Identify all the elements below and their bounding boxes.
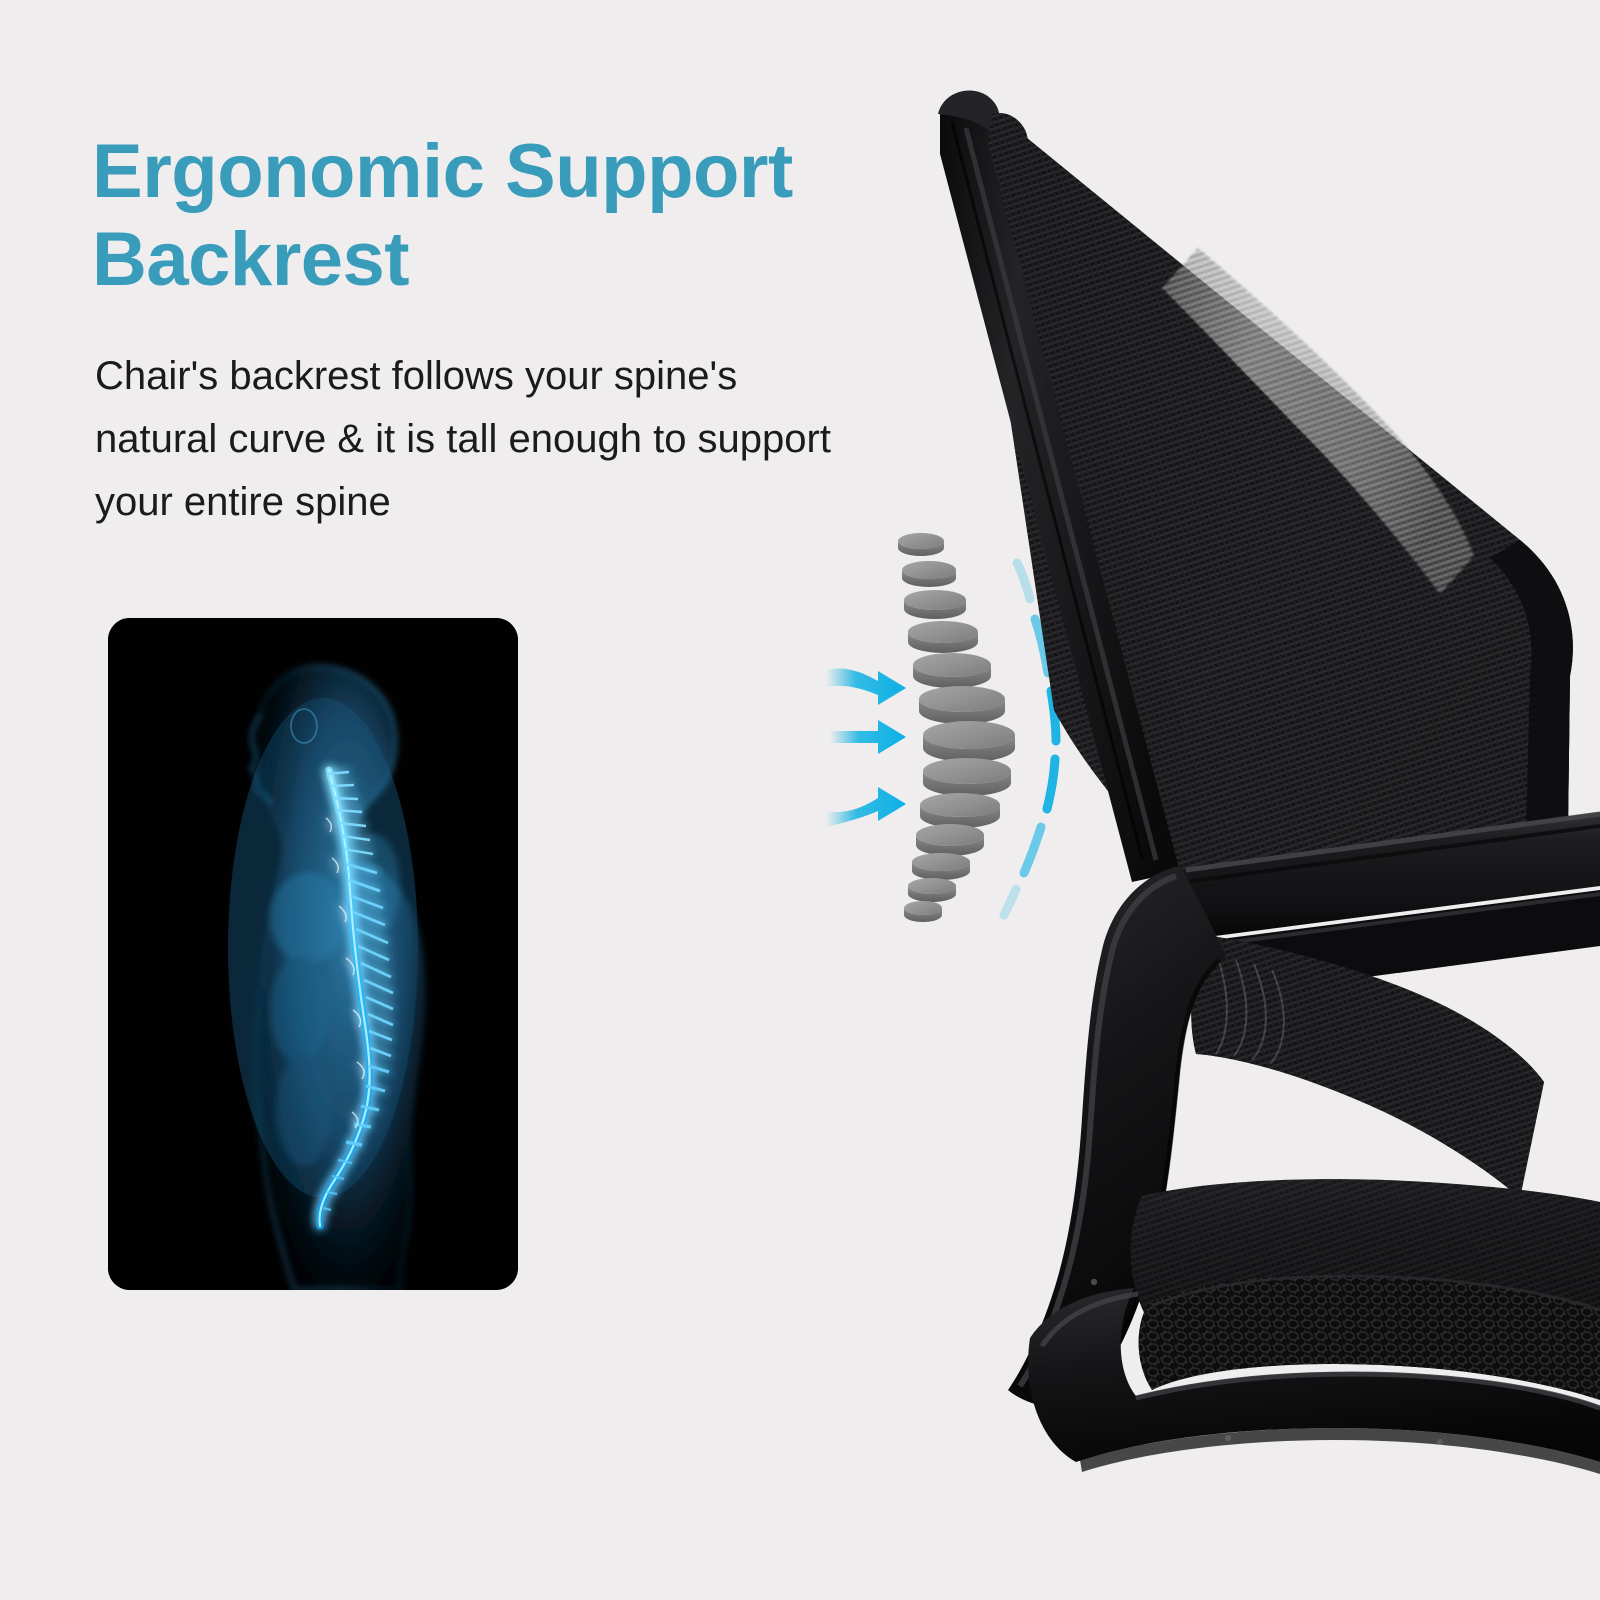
seat-cushion	[1131, 1179, 1600, 1400]
page-title: Ergonomic Support Backrest	[92, 128, 882, 304]
lumbar-mesh-panel	[1191, 936, 1544, 1198]
product-feature-slide: Ergonomic Support Backrest Chair's backr…	[0, 0, 1600, 1600]
feature-description: Chair's backrest follows your spine's na…	[95, 345, 855, 535]
office-chair-product-image	[880, 70, 1600, 1490]
spine-anatomy-image-card	[108, 618, 518, 1290]
xray-human-spine-illustration	[108, 618, 518, 1290]
